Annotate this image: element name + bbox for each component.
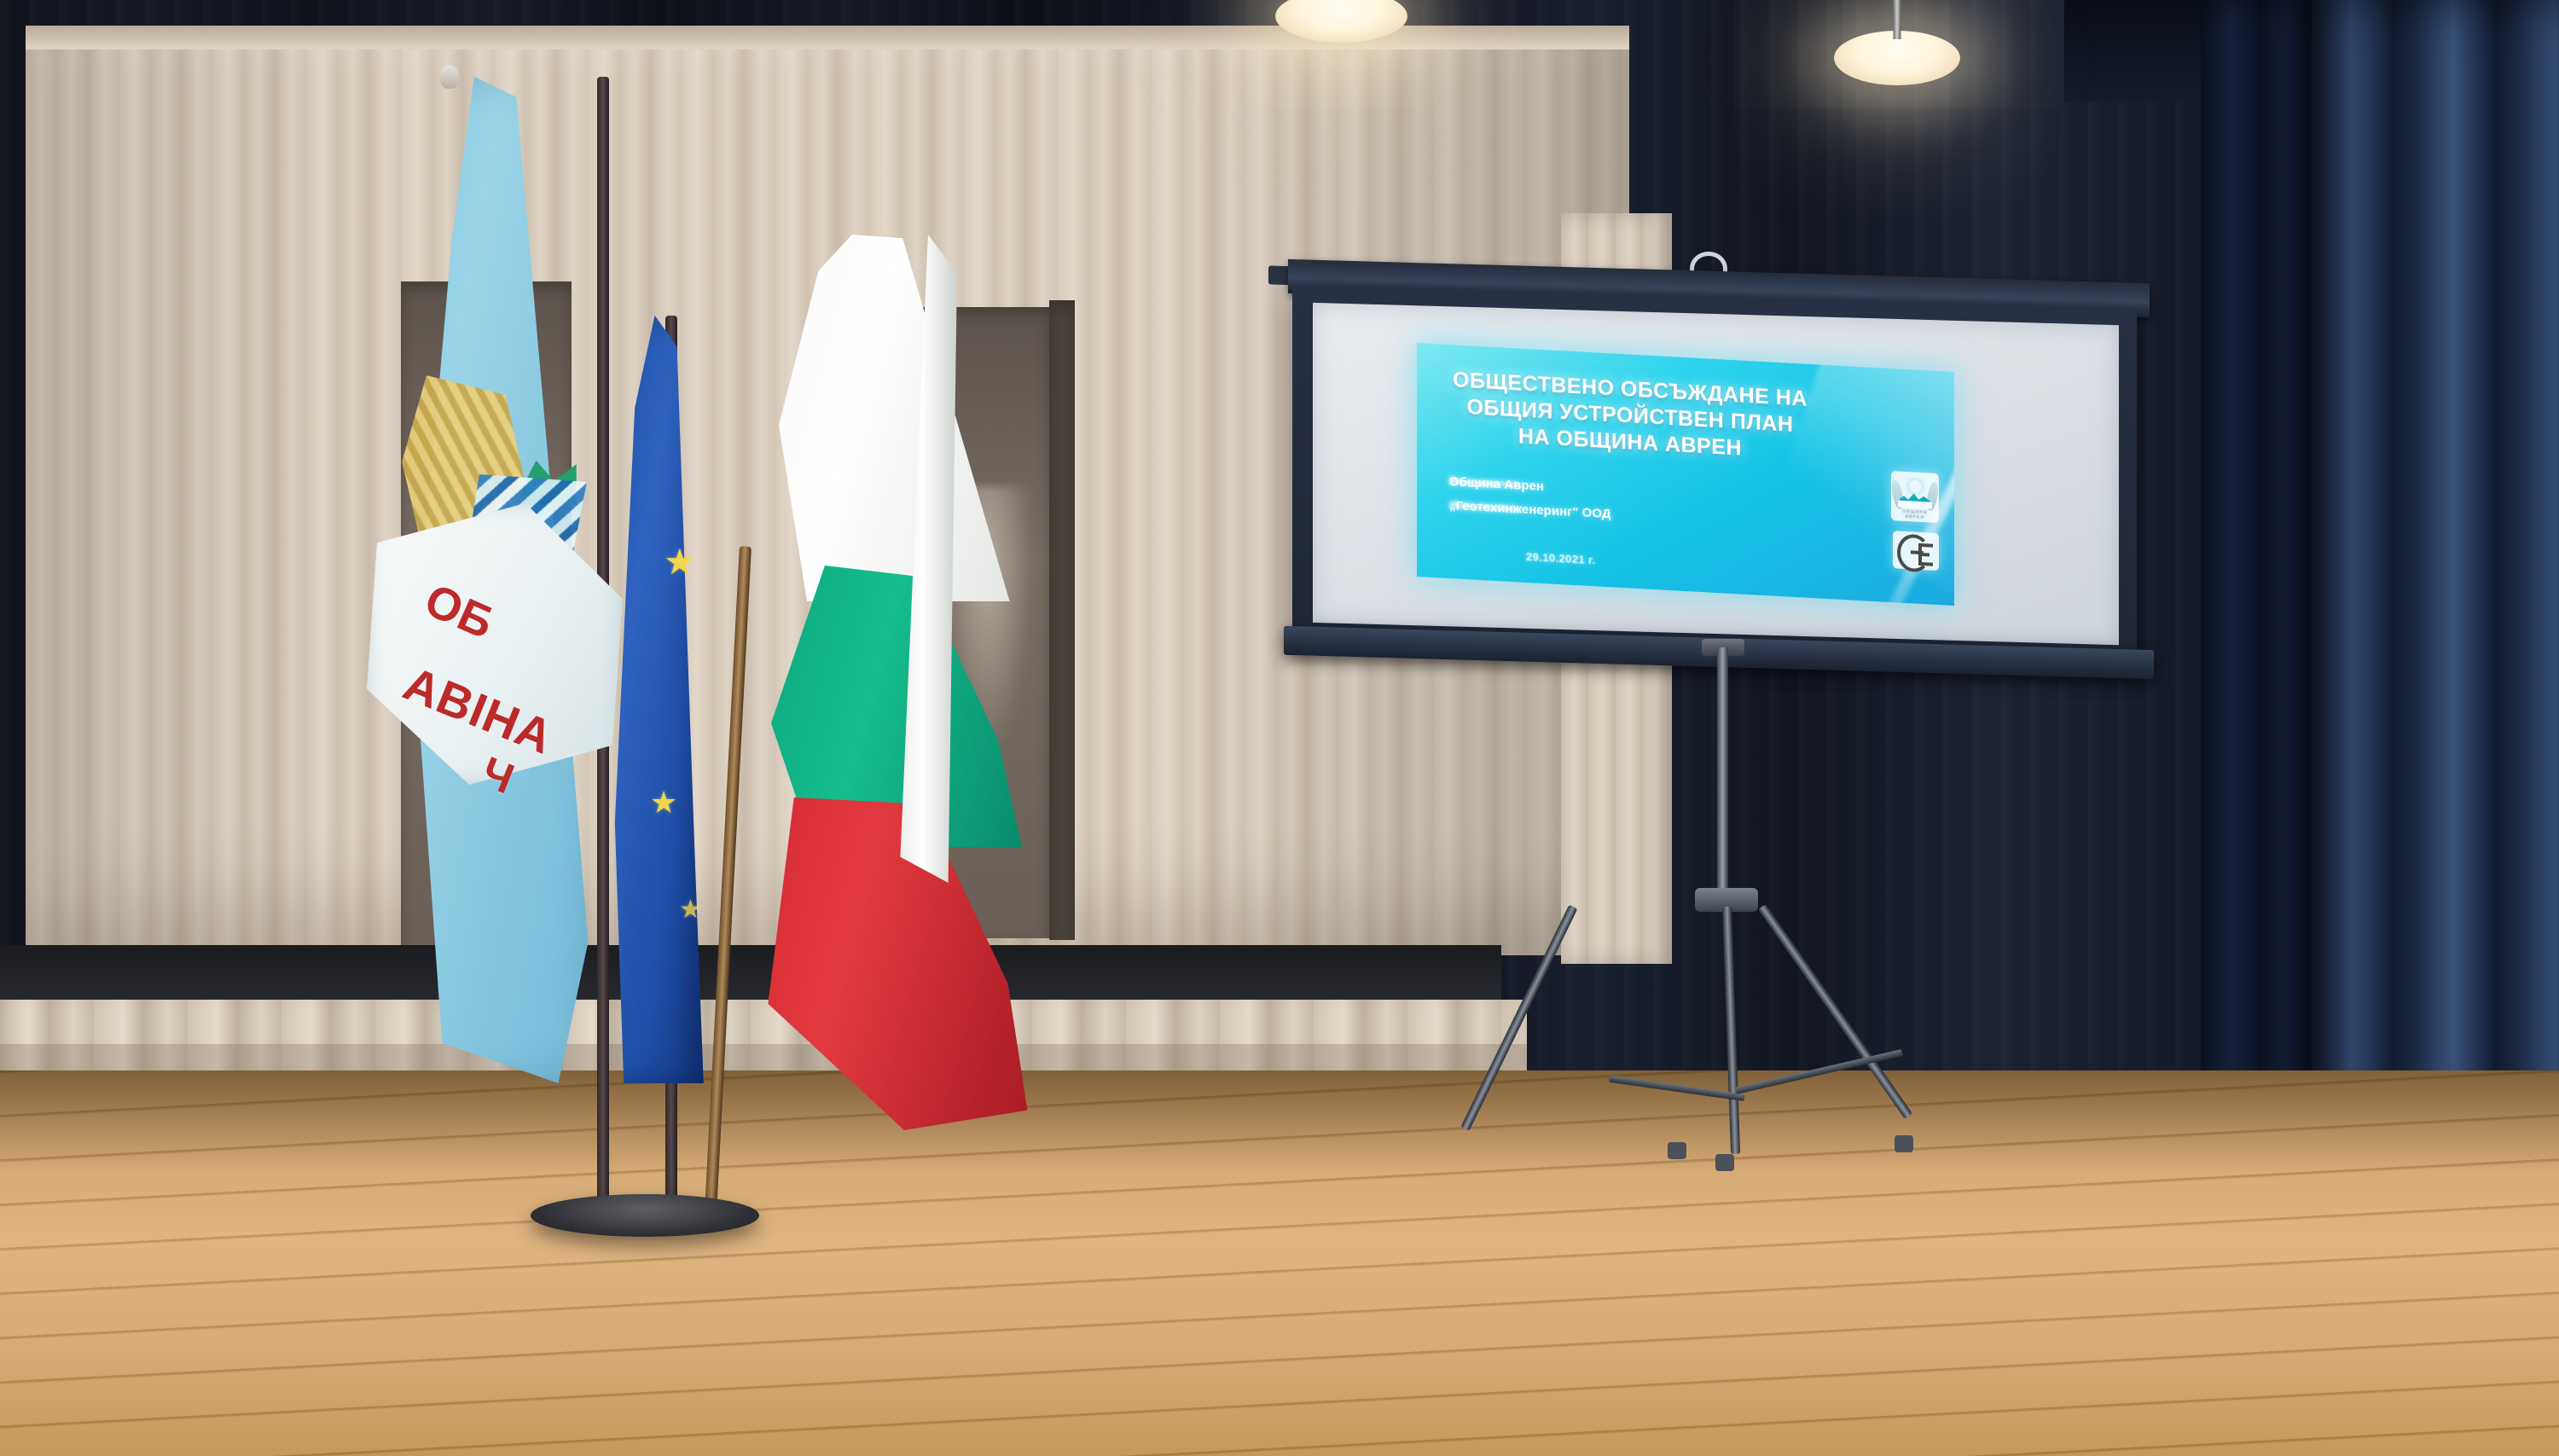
pendant-lamp-right	[1834, 31, 1960, 85]
logo-sun-icon	[1909, 479, 1922, 493]
eu-star-icon-3: ★	[679, 892, 702, 928]
avren-municipality-logo: ОБЩИНА АВРЕН	[1891, 471, 1939, 523]
slide-title: ОБЩЕСТВЕНО ОБСЪЖДАНЕ НА ОБЩИЯ УСТРОЙСТВЕ…	[1417, 365, 1843, 467]
screen-frame: ОБЩЕСТВЕНО ОБСЪЖДАНЕ НА ОБЩИЯ УСТРОЙСТВЕ…	[1292, 285, 2137, 663]
tripod-leg-left	[1460, 905, 1577, 1131]
tripod-foot-right	[1895, 1135, 1913, 1152]
tripod-center-post	[1717, 647, 1728, 895]
tripod-foot-left	[1668, 1142, 1686, 1159]
lamp-rod-right	[1894, 0, 1901, 39]
tripod-brace-left	[1609, 1076, 1745, 1101]
pendant-lamp-left	[1275, 0, 1407, 43]
navy-curtain-right	[2312, 0, 2559, 1134]
logo-base-bar	[1898, 501, 1932, 509]
slide-client-value: Община Аврен	[1449, 474, 1544, 494]
scene-photo: ОБЩЕСТВЕНО ОБСЪЖДАНЕ НА ОБЩИЯ УСТРОЙСТВЕ…	[0, 0, 2559, 1456]
flag-bulgaria	[751, 235, 1032, 1088]
eu-star-icon-2: ★	[650, 785, 677, 821]
slide-date: 29.10.2021 г.	[1526, 550, 1596, 566]
screen-tripod-stand[interactable]	[1292, 635, 2137, 1250]
projected-slide: ОБЩЕСТВЕНО ОБСЪЖДАНЕ НА ОБЩИЯ УСТРОЙСТВЕ…	[1417, 343, 1954, 606]
flag-bulgaria-white-stripe	[751, 235, 1032, 601]
tripod-leg-center	[1722, 907, 1740, 1154]
lamp-shade-left	[1275, 0, 1407, 43]
flagpole-base-stand	[531, 1194, 759, 1237]
eu-star-icon-1: ★	[664, 544, 696, 580]
flagpole-finial-municipal	[440, 65, 459, 89]
hanging-banner-right-edge	[1049, 300, 1075, 940]
flag-bulgaria-red-stripe	[710, 798, 1034, 1130]
logo-caption: ОБЩИНА АВРЕН	[1891, 508, 1939, 521]
geotechengineering-logo	[1893, 531, 1939, 571]
slide-contractor-value: „Геотехинженеринг" ООД	[1449, 498, 1610, 521]
navy-curtain-inner-panel	[2201, 0, 2312, 1134]
floor-shadow	[0, 1070, 2559, 1173]
logo-letter-e-mid	[1918, 553, 1929, 556]
tripod-foot-center	[1715, 1154, 1734, 1171]
tripod-leg-right	[1758, 904, 1912, 1119]
